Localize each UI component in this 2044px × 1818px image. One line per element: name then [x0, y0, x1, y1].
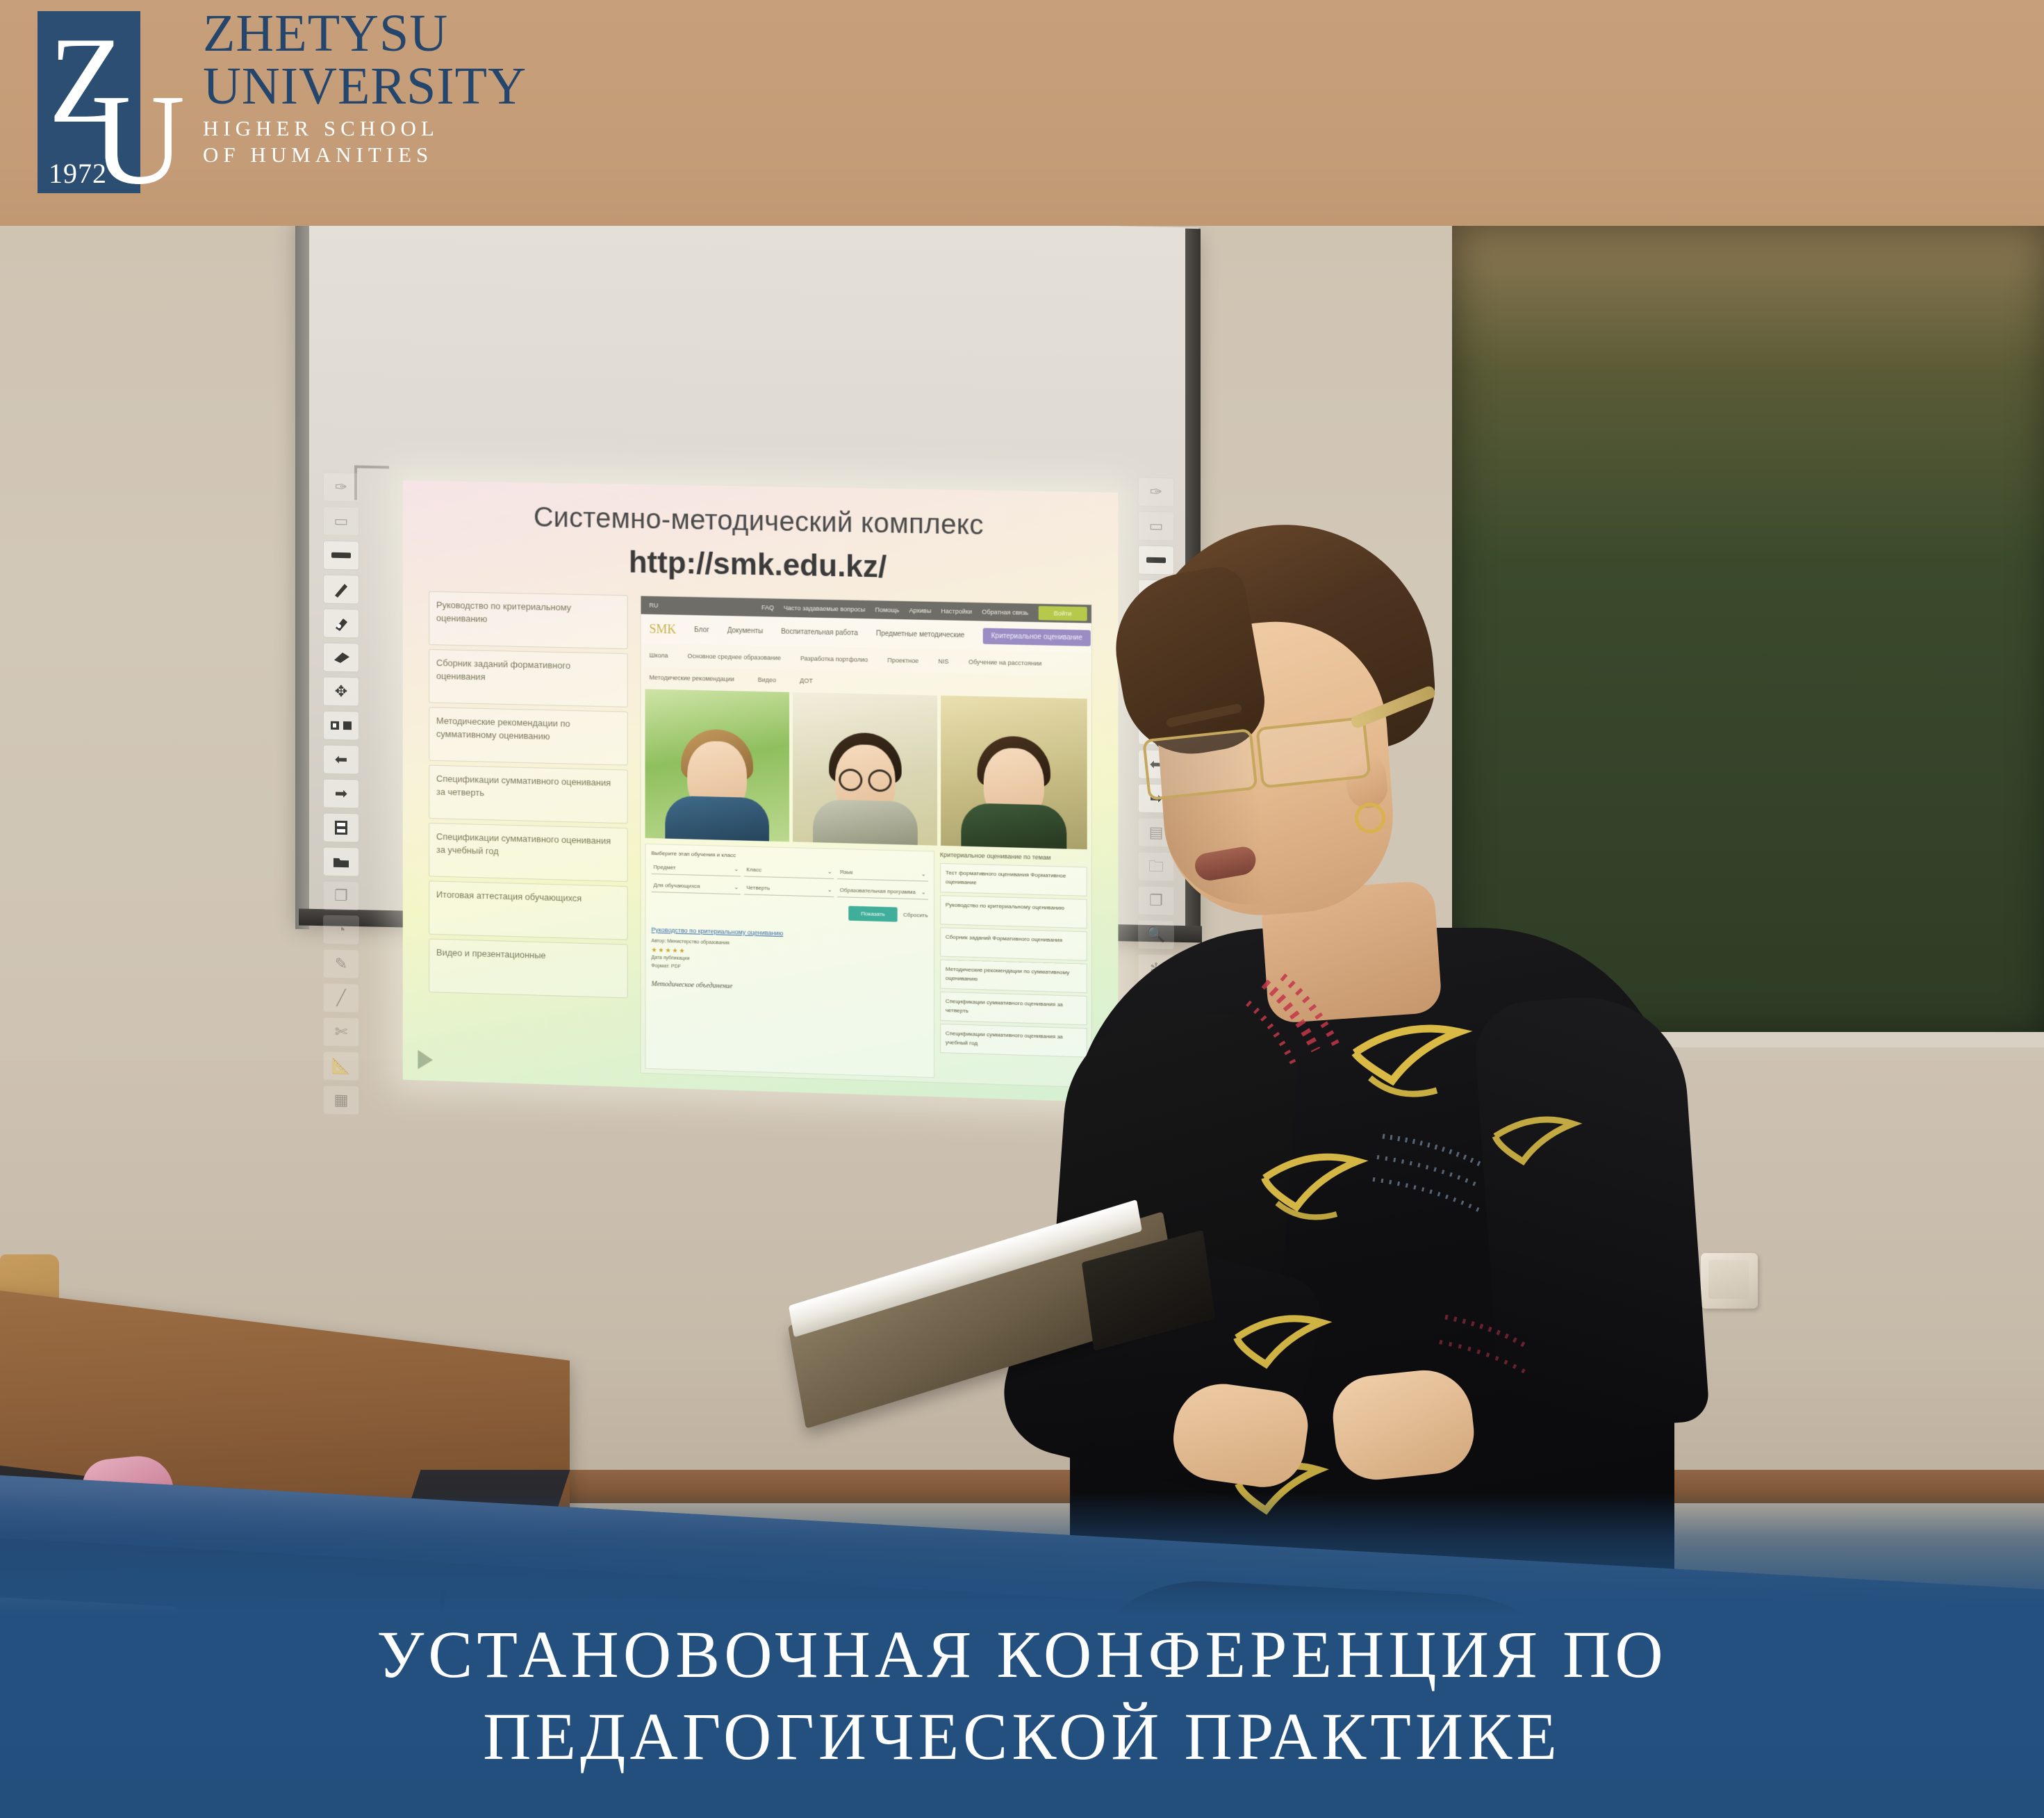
subnav2-item[interactable]: Методические рекомендации [649, 674, 734, 683]
subnav2-item[interactable]: ДОТ [800, 677, 813, 684]
nav-item[interactable]: Блог [694, 626, 709, 634]
website-screenshot: RU FAQ Часто задаваемые вопросы Помощь А… [641, 596, 1092, 1088]
eraser-icon[interactable] [323, 643, 359, 673]
select-value: Образовательная программа [840, 887, 916, 895]
caption-line-1: УСТАНОВОЧНАЯ КОНФЕРЕНЦИЯ ПО [377, 1614, 1667, 1696]
select-field[interactable]: Образовательная программа⌄ [838, 883, 928, 900]
caption-line-2: ПЕДАГОГИЧЕСКОЙ ПРАКТИКЕ [483, 1696, 1561, 1778]
subnav-item[interactable]: NIS [938, 657, 948, 664]
logo-mark: Z U 1972 [38, 11, 149, 199]
topbar-link[interactable]: Настройки [941, 607, 972, 615]
logo-wordmark: ZHETYSU UNIVERSITY HIGHER SCHOOL OF HUMA… [203, 8, 564, 168]
hero-photo-girl-glasses [793, 692, 938, 846]
slide-card[interactable]: Методические рекомендации по суммативном… [429, 707, 628, 765]
marker-icon[interactable] [323, 541, 359, 571]
nav-item[interactable]: Предметные методические [876, 630, 964, 639]
line-icon[interactable]: ╱ [323, 983, 359, 1013]
topbar-link[interactable]: Обратная связь [982, 608, 1028, 616]
arrow-left-icon[interactable]: ⬅ [323, 745, 359, 775]
form-grid: Предмет⌄ Класс⌄ Язык⌄ Для обучающихся⌄ Ч… [651, 860, 928, 900]
nav-item[interactable]: Документы [727, 627, 764, 635]
slide-card[interactable]: Видео и презентационные [429, 939, 628, 999]
split-screen-icon[interactable] [323, 711, 359, 741]
kid-body [813, 799, 918, 845]
hero-photo-girl [645, 689, 789, 842]
reset-button[interactable]: Сбросить [903, 912, 928, 919]
shape-icon[interactable]: ◔ [323, 915, 359, 945]
site-hero-banner [645, 689, 1087, 849]
logo-name-line-1: ZHETYSU [203, 8, 564, 58]
slide-card[interactable]: Спецификации суммативного оценивания за … [429, 823, 628, 882]
logo-subtitle-line-1: HIGHER SCHOOL [203, 115, 564, 142]
logo-subtitle-line-2: OF HUMANITIES [203, 142, 564, 168]
slide-left-cards: Руководство по критериальному оцениванию… [429, 591, 628, 1073]
slide-card[interactable]: Руководство по критериальному оцениванию [429, 591, 628, 649]
topbar-link[interactable]: Архивы [909, 607, 931, 614]
chevron-down-icon: ⌄ [921, 871, 926, 877]
ruler-icon[interactable]: 📐 [323, 1051, 359, 1081]
projected-slide: Системно-методический комплекс http://sm… [403, 480, 1119, 1102]
slide-card[interactable]: Итоговая аттестация обучающихся [429, 881, 628, 940]
select-value: Класс [746, 866, 761, 873]
whiteboard-toolbar-left[interactable]: ✑ ▭ ✥ ⬅ ➡ ❐ ◔ ✎ ╱ ✄ 📐 ▦ [321, 472, 361, 1115]
topbar-link[interactable]: Часто задаваемые вопросы [784, 605, 865, 613]
select-field[interactable]: Класс⌄ [744, 862, 834, 879]
topbar-link[interactable]: FAQ [761, 604, 774, 611]
whiteboard-left-edge [295, 226, 309, 929]
chevron-down-icon: ⌄ [827, 886, 832, 892]
search-form-panel: Выберите этап обучения и класс Предмет⌄ … [645, 844, 934, 1078]
subnav-item[interactable]: Школа [649, 652, 668, 660]
pen-icon[interactable] [323, 575, 359, 605]
document-meta: Автор: Министерство образования ★★★★★ Да… [651, 937, 928, 978]
nav-item[interactable]: Воспитательная работа [781, 628, 858, 637]
form-actions: Показать Сбросить [651, 901, 928, 923]
light-switch[interactable] [1701, 1253, 1758, 1309]
chevron-down-icon: ⌄ [734, 866, 739, 872]
subnav-item[interactable]: Разработка портфолио [800, 655, 868, 663]
presenter-right-shoulder [1472, 990, 1711, 1434]
kid-glasses-icon [839, 768, 891, 787]
slide-card[interactable]: Спецификации суммативного оценивания за … [429, 765, 628, 824]
play-triangle-icon[interactable] [418, 1050, 433, 1070]
move-icon[interactable]: ✥ [323, 677, 359, 707]
slide-url: http://smk.edu.kz/ [403, 541, 1119, 589]
folder-icon[interactable] [323, 847, 359, 877]
slide-body: Руководство по критериальному оцениванию… [429, 591, 1092, 1088]
subnav2-item[interactable]: Видео [758, 676, 776, 684]
site-content-panels: Выберите этап обучения и класс Предмет⌄ … [645, 844, 1087, 1083]
select-field[interactable]: Четверть⌄ [744, 880, 834, 897]
caption-banner: УСТАНОВОЧНАЯ КОНФЕРЕНЦИЯ ПО ПЕДАГОГИЧЕСК… [0, 1491, 2044, 1818]
logo-founded-year: 1972 [49, 160, 107, 188]
submit-button[interactable]: Показать [848, 906, 897, 922]
highlighter-icon[interactable] [323, 609, 359, 639]
subnav-item[interactable]: Проектное [887, 657, 918, 664]
slide-title: Системно-методический комплекс [403, 500, 1119, 543]
earring-icon [1355, 803, 1385, 833]
scissors-icon[interactable]: ✄ [323, 1017, 359, 1047]
glasses-left-lens [1142, 728, 1258, 801]
pen-thin-icon[interactable]: ✑ [323, 473, 359, 502]
slide-card[interactable]: Сборник заданий формативного оценивания [429, 649, 628, 707]
select-field[interactable]: Язык⌄ [838, 865, 928, 882]
language-toggle[interactable]: RU [645, 602, 659, 609]
kid-body [962, 803, 1067, 849]
save-icon[interactable] [323, 813, 359, 843]
rectangle-icon[interactable]: ▭ [323, 507, 359, 537]
poster-root: Z U 1972 ZHETYSU UNIVERSITY HIGHER SCHOO… [0, 0, 2044, 1818]
chevron-down-icon: ⌄ [827, 868, 832, 874]
document-signature: Методическое объединение [651, 981, 928, 997]
subnav-item[interactable]: Обучение на расстоянии [969, 658, 1041, 666]
topbar-link[interactable]: Помощь [875, 606, 899, 614]
university-logo: Z U 1972 ZHETYSU UNIVERSITY HIGHER SCHOO… [17, 6, 572, 207]
grid-icon[interactable]: ▦ [323, 1086, 359, 1115]
header-band: Z U 1972 ZHETYSU UNIVERSITY HIGHER SCHOO… [0, 0, 2044, 226]
logo-name-line-2: UNIVERSITY [203, 61, 564, 111]
pen-thin-icon[interactable]: ✑ [1138, 477, 1174, 507]
select-value: Для обучающихся [653, 881, 700, 889]
select-value: Язык [840, 869, 853, 876]
select-field[interactable]: Для обучающихся⌄ [651, 878, 741, 894]
select-field[interactable]: Предмет⌄ [651, 860, 741, 876]
select-value: Предмет [653, 864, 675, 871]
pencil-icon[interactable]: ✎ [323, 949, 359, 979]
presenter-right-hand [1329, 1366, 1478, 1484]
arrow-right-icon[interactable]: ➡ [323, 779, 359, 809]
select-value: Четверть [746, 884, 770, 891]
chevron-down-icon: ⌄ [734, 884, 739, 890]
chevron-down-icon: ⌄ [921, 889, 926, 895]
kid-body [665, 796, 769, 842]
subnav-item[interactable]: Основное среднее образование [688, 653, 781, 662]
site-logo[interactable]: SMK [649, 621, 676, 637]
copy-icon[interactable]: ❐ [323, 881, 359, 911]
